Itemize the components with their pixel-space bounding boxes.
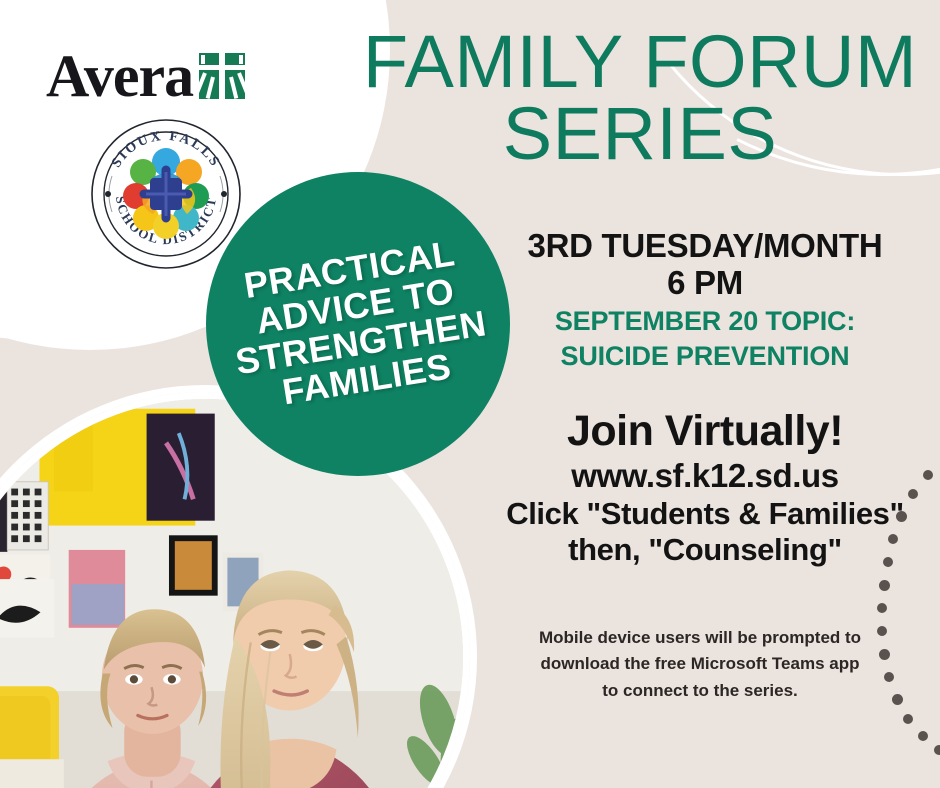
- avera-wordmark: Avera: [46, 46, 193, 106]
- join-step-2: then, "Counseling": [480, 532, 930, 568]
- mobile-note-line-1: Mobile device users will be prompted to: [500, 625, 900, 651]
- join-url[interactable]: www.sf.k12.sd.us: [480, 457, 930, 495]
- avera-cross-mark-icon: [199, 53, 245, 99]
- schedule-frequency: 3RD TUESDAY/MONTH: [480, 228, 930, 265]
- title-line-2: SERIES: [360, 98, 920, 170]
- schedule-topic-label: SEPTEMBER 20 TOPIC:: [480, 306, 930, 337]
- poster-canvas: Avera SIOUX FALLS SCHOOL DISTRICT: [0, 0, 940, 788]
- mobile-note-line-2: download the free Microsoft Teams app: [500, 651, 900, 677]
- join-step-1: Click "Students & Families": [480, 496, 930, 532]
- page-title: FAMILY FORUM SERIES: [360, 26, 920, 170]
- schedule-topic-value: SUICIDE PREVENTION: [480, 341, 930, 372]
- title-line-1: FAMILY FORUM: [360, 26, 920, 98]
- schedule-time: 6 PM: [480, 265, 930, 302]
- practical-advice-badge: PRACTICAL ADVICE TO STRENGTHEN FAMILIES: [206, 172, 510, 476]
- join-heading: Join Virtually!: [480, 408, 930, 455]
- avera-logo: Avera: [46, 46, 245, 106]
- schedule-block: 3RD TUESDAY/MONTH 6 PM SEPTEMBER 20 TOPI…: [480, 228, 930, 373]
- mobile-note-line-3: to connect to the series.: [500, 678, 900, 704]
- mobile-note: Mobile device users will be prompted to …: [500, 625, 900, 704]
- join-block: Join Virtually! www.sf.k12.sd.us Click "…: [480, 408, 930, 567]
